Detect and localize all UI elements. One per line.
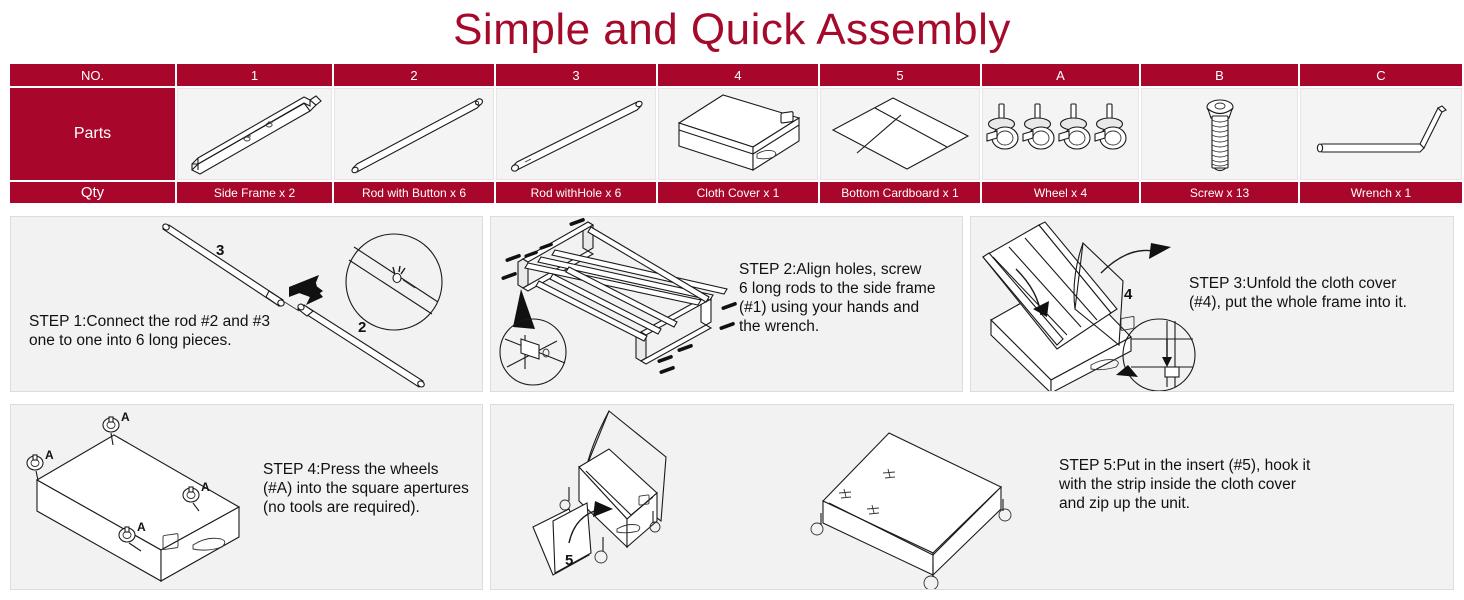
qty-cell-2: Rod with Button x 6 (334, 182, 494, 203)
parts-table-image-row: Parts (10, 88, 1454, 180)
parts-table-header-row: NO. 1 2 3 4 5 A B C (10, 64, 1454, 86)
table-row-label-no: NO. (10, 64, 175, 86)
header-num-4: 4 (734, 68, 741, 83)
header-num-c: C (1376, 68, 1385, 83)
qty-text-1: Side Frame x 2 (214, 186, 295, 200)
part-image-screw (1141, 88, 1298, 180)
part-image-cloth-cover (658, 88, 818, 180)
step3-callout-4: 4 (1124, 286, 1133, 303)
step-2-panel: STEP 2:Align holes, screw 6 long rods to… (490, 216, 963, 392)
qty-cell-c: Wrench x 1 (1300, 182, 1462, 203)
rod-with-hole-icon (499, 90, 654, 178)
qty-text-3: Rod withHole x 6 (531, 186, 622, 200)
header-num-2: 2 (410, 68, 417, 83)
qty-cell-4: Cloth Cover x 1 (658, 182, 818, 203)
header-num-3: 3 (572, 68, 579, 83)
step-1-diagram: 3 2 (11, 217, 483, 392)
parts-table: NO. 1 2 3 4 5 A B C Parts (10, 64, 1454, 205)
table-row-label-parts: Parts (10, 88, 175, 180)
qty-text-c: Wrench x 1 (1351, 186, 1411, 200)
header-cell-c: C (1300, 64, 1462, 86)
step-5-text: STEP 5:Put in the insert (#5), hook it w… (1059, 457, 1389, 514)
step4-callout-a-4: A (137, 520, 146, 534)
step5-callout-5: 5 (565, 552, 573, 569)
step-1-panel: 3 2 STEP 1:Connect the rod #2 and #3 one… (10, 216, 483, 392)
side-frame-icon (180, 90, 330, 178)
qty-text-5: Bottom Cardboard x 1 (841, 186, 958, 200)
qty-cell-a: Wheel x 4 (982, 182, 1139, 203)
step4-callout-a-1: A (121, 410, 130, 424)
page-title: Simple and Quick Assembly (0, 0, 1464, 60)
qty-cell-5: Bottom Cardboard x 1 (820, 182, 980, 203)
step1-callout-2: 2 (358, 319, 366, 336)
part-image-bottom-cardboard (820, 88, 980, 180)
step-4-text: STEP 4:Press the wheels (#A) into the sq… (263, 461, 483, 518)
parts-table-qty-row: Qty Side Frame x 2 Rod with Button x 6 R… (10, 182, 1454, 203)
step-3-text: STEP 3:Unfold the cloth cover (#4), put … (1189, 275, 1451, 313)
step-4-panel: A A A (10, 404, 483, 590)
assembly-instruction-sheet: Simple and Quick Assembly NO. 1 2 3 4 5 … (0, 0, 1464, 600)
part-image-wrench (1300, 88, 1462, 180)
part-image-wheel (982, 88, 1139, 180)
qty-text-b: Screw x 13 (1190, 186, 1249, 200)
header-cell-1: 1 (177, 64, 332, 86)
qty-label-text: Qty (81, 184, 104, 201)
wrench-icon (1302, 90, 1460, 178)
header-num-a: A (1056, 68, 1065, 83)
screw-icon (1144, 90, 1296, 178)
part-image-rod-with-hole (496, 88, 656, 180)
step-2-text: STEP 2:Align holes, screw 6 long rods to… (739, 261, 961, 337)
header-num-1: 1 (251, 68, 258, 83)
wheel-icon (985, 90, 1137, 178)
bottom-cardboard-icon (823, 90, 978, 178)
header-cell-4: 4 (658, 64, 818, 86)
step1-callout-3: 3 (216, 242, 224, 259)
header-cell-5: 5 (820, 64, 980, 86)
cloth-cover-icon (661, 90, 816, 178)
header-num-5: 5 (896, 68, 903, 83)
step4-callout-a-3: A (201, 480, 210, 494)
step4-callout-a-2: A (45, 448, 54, 462)
header-cell-3: 3 (496, 64, 656, 86)
step-1-text: STEP 1:Connect the rod #2 and #3 one to … (29, 313, 359, 351)
qty-text-a: Wheel x 4 (1034, 186, 1087, 200)
parts-label-text: Parts (74, 125, 111, 143)
qty-text-2: Rod with Button x 6 (362, 186, 466, 200)
header-cell-a: A (982, 64, 1139, 86)
qty-cell-1: Side Frame x 2 (177, 182, 332, 203)
rod-with-button-icon (337, 90, 492, 178)
header-cell-2: 2 (334, 64, 494, 86)
header-num-b: B (1215, 68, 1224, 83)
part-image-side-frame (177, 88, 332, 180)
part-image-rod-with-button (334, 88, 494, 180)
qty-text-4: Cloth Cover x 1 (697, 186, 780, 200)
qty-cell-3: Rod withHole x 6 (496, 182, 656, 203)
header-cell-b: B (1141, 64, 1298, 86)
step-5-panel: 5 (490, 404, 1454, 590)
qty-cell-b: Screw x 13 (1141, 182, 1298, 203)
header-no-label: NO. (81, 68, 104, 83)
step-3-panel: 4 STEP 3:Unfold the cloth cover (#4), pu… (970, 216, 1454, 392)
table-row-label-qty: Qty (10, 182, 175, 203)
